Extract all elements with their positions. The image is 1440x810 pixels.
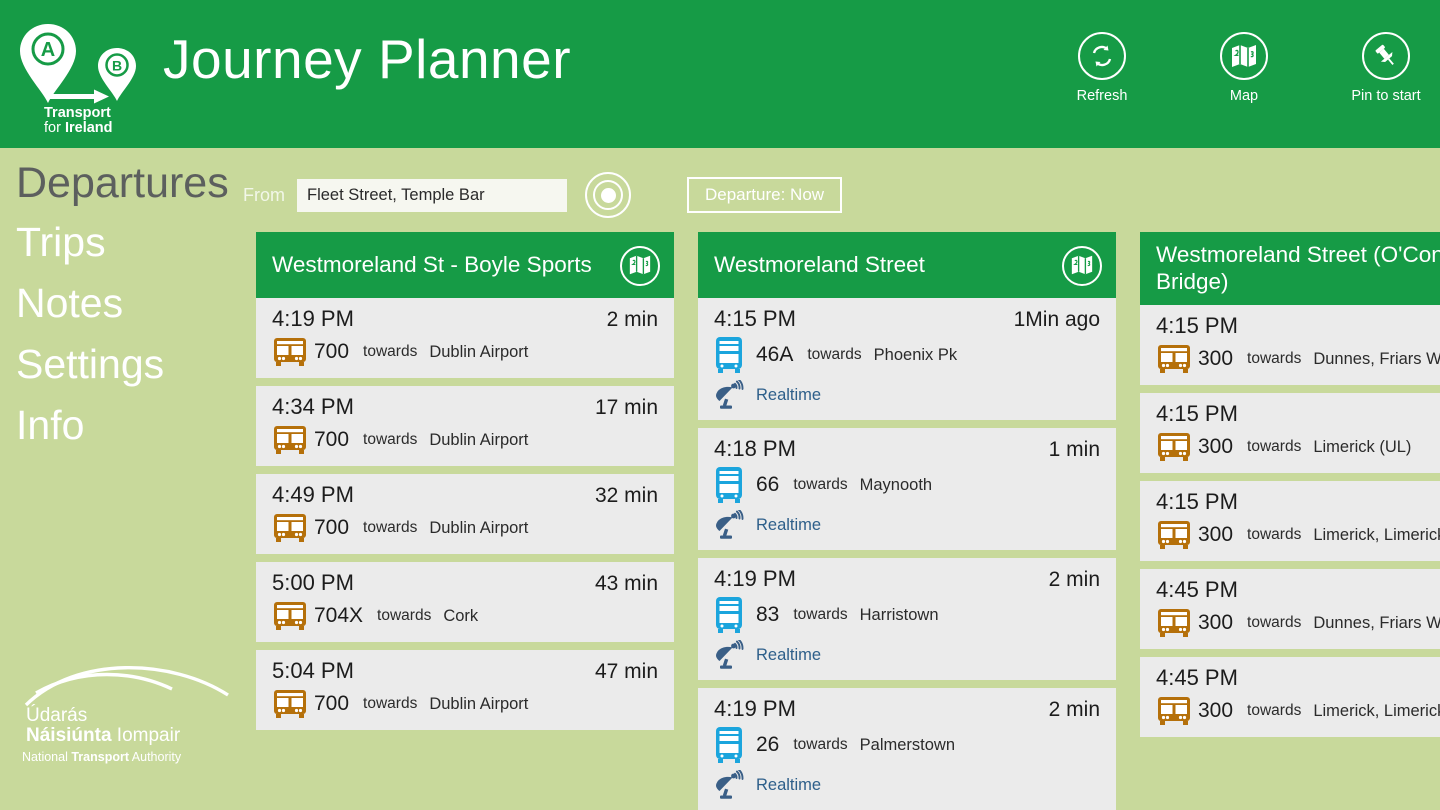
stop-column: Westmoreland Street (O'Connell Bridge) 4… [1140,232,1440,810]
towards-label: towards [363,431,417,449]
departure-row-main: 700towardsDublin Airport [272,336,658,368]
transport-for-ireland-logo: A B Transport for Ireland [18,18,158,136]
departure-row-main: 300towardsLimerick, Limerick Quay [1156,695,1440,727]
departure-time: 4:19 PM [272,306,354,332]
stop-column: Westmoreland St - Boyle Sports 4:19 PM2 … [256,232,674,810]
departure-row-top: 4:15 PM1Min ago [1156,489,1440,515]
route-number: 66 [756,473,779,497]
coach-icon [272,512,314,544]
departure-eta: 17 min [595,396,658,420]
route-number: 26 [756,733,779,757]
destination-label: Limerick, Limerick Quay [1313,702,1440,721]
svg-text:Údarás: Údarás [26,704,87,726]
satellite-icon [714,640,756,670]
stop-name: Westmoreland Street (O'Connell Bridge) [1156,242,1440,295]
departure-time: 4:15 PM [1156,401,1238,427]
refresh-button[interactable]: Refresh [1062,32,1142,104]
departure-eta: 1Min ago [1014,308,1100,332]
sidebar-item-settings[interactable]: Settings [16,344,164,385]
sidebar-item-trips[interactable]: Trips [16,222,164,263]
departure-time: 4:45 PM [1156,577,1238,603]
towards-label: towards [793,736,847,754]
destination-label: Dublin Airport [429,343,528,362]
route-number: 83 [756,603,779,627]
towards-label: towards [363,343,417,361]
departure-row[interactable]: 4:15 PM1Min ago 300towardsDunnes, Friars… [1140,305,1440,385]
app-title: Journey Planner [163,32,571,87]
towards-label: towards [1247,350,1301,368]
departure-time: 5:00 PM [272,570,354,596]
departure-list: 4:15 PM1Min ago 300towardsDunnes, Friars… [1140,305,1440,737]
coach-icon [1156,343,1198,375]
departure-eta: 2 min [1049,568,1100,592]
svg-text:B: B [112,58,122,74]
departure-eta: 43 min [595,572,658,596]
journey-planner-app: A B Transport for Ireland Journey Planne… [0,0,1440,810]
stop-map-button[interactable] [620,246,660,286]
coach-icon [272,600,314,632]
app-header: A B Transport for Ireland Journey Planne… [0,0,1440,148]
route-number: 300 [1198,347,1233,371]
departure-time: 4:18 PM [714,436,796,462]
departure-row-main: 300towardsDunnes, Friars Walk [1156,343,1440,375]
realtime-label: Realtime [756,776,821,795]
departure-row-top: 5:00 PM43 min [272,570,658,596]
destination-label: Dublin Airport [429,695,528,714]
realtime-label: Realtime [756,516,821,535]
satellite-icon [714,770,756,800]
nta-logo-line3-b: Authority [129,750,181,764]
coach-icon [1156,607,1198,639]
locate-me-button[interactable] [585,172,631,218]
coach-icon [1156,431,1198,463]
route-number: 700 [314,340,349,364]
realtime-label: Realtime [756,646,821,665]
departure-row-main: 700towardsDublin Airport [272,424,658,456]
svg-text:Transport: Transport [44,105,111,121]
departure-row[interactable]: 5:04 PM47 min 700towardsDublin Airport [256,650,674,730]
departure-row-main: 700towardsDublin Airport [272,688,658,720]
departure-row[interactable]: 4:45 PM29 min 300towardsDunnes, Friars W… [1140,569,1440,649]
towards-label: towards [1247,438,1301,456]
departure-row[interactable]: 4:18 PM1 min 66towardsMaynooth Realtime [698,428,1116,550]
departure-row[interactable]: 4:19 PM2 min 26towardsPalmerstown Realti… [698,688,1116,810]
destination-label: Dublin Airport [429,431,528,450]
departure-row-main: 26towardsPalmerstown [714,726,1100,764]
svg-text:for Ireland: for Ireland [44,120,113,136]
destination-label: Palmerstown [860,736,955,755]
departure-row-main: 83towardsHarristown [714,596,1100,634]
departure-time: 4:15 PM [714,306,796,332]
nta-logo: Údarás Náisiúnta Iompair National Transp… [22,647,232,764]
departure-row-main: 300towardsLimerick, Limerick Quay [1156,519,1440,551]
departure-row[interactable]: 4:19 PM2 min 700towardsDublin Airport [256,298,674,378]
stop-name: Westmoreland St - Boyle Sports [272,252,592,279]
map-icon [628,254,652,279]
realtime-label: Realtime [756,386,821,405]
departure-time: 4:15 PM [1156,489,1238,515]
sidebar-item-notes[interactable]: Notes [16,283,164,324]
towards-label: towards [1247,526,1301,544]
realtime-row: Realtime [714,380,1100,410]
sidebar-nav: Trips Notes Settings Info [16,222,164,466]
route-number: 300 [1198,611,1233,635]
departure-row[interactable]: 4:15 PM1Min ago 46AtowardsPhoenix Pk Rea… [698,298,1116,420]
departure-row-top: 4:19 PM2 min [714,696,1100,722]
departure-row[interactable]: 4:45 PM29 min 300towardsLimerick, Limeri… [1140,657,1440,737]
coach-icon [272,688,314,720]
map-button-label: Map [1230,88,1258,104]
destination-label: Harristown [860,606,939,625]
coach-icon [272,424,314,456]
departure-row-main: 704XtowardsCork [272,600,658,632]
sidebar: Departures Trips Notes Settings Info Úda… [0,148,256,810]
stop-header: Westmoreland Street (O'Connell Bridge) [1140,232,1440,305]
svg-text:A: A [41,39,55,61]
departure-eta: 2 min [607,308,658,332]
departure-row[interactable]: 4:49 PM32 min 700towardsDublin Airport [256,474,674,554]
departure-time: 4:49 PM [272,482,354,508]
destination-label: Limerick (UL) [1313,438,1411,457]
svg-text:Náisiúnta Iompair: Náisiúnta Iompair [26,725,181,746]
route-number: 700 [314,516,349,540]
stop-column: Westmoreland Street 4:15 PM1Min ago 46At… [698,232,1116,810]
departure-row-main: 300towardsDunnes, Friars Walk [1156,607,1440,639]
coach-icon [1156,519,1198,551]
departure-row-top: 5:04 PM47 min [272,658,658,684]
realtime-row: Realtime [714,770,1100,800]
nta-logo-line3-bold: Transport [71,750,129,764]
route-number: 700 [314,692,349,716]
coach-icon [1156,695,1198,727]
destination-label: Dunnes, Friars Walk [1313,614,1440,633]
realtime-row: Realtime [714,640,1100,670]
stop-header: Westmoreland St - Boyle Sports [256,232,674,298]
departure-row[interactable]: 4:19 PM2 min 83towardsHarristown Realtim… [698,558,1116,680]
departure-row-top: 4:15 PM1Min ago [714,306,1100,332]
stop-name: Westmoreland Street [714,252,925,279]
from-label: From [243,185,285,206]
satellite-icon [714,510,756,540]
route-number: 300 [1198,435,1233,459]
departure-row[interactable]: 5:00 PM43 min 704XtowardsCork [256,562,674,642]
departure-row-top: 4:15 PM1Min ago [1156,401,1440,427]
destination-label: Cork [443,607,478,626]
satellite-icon [714,380,756,410]
route-number: 300 [1198,699,1233,723]
departure-row-top: 4:34 PM17 min [272,394,658,420]
realtime-row: Realtime [714,510,1100,540]
departure-time: 4:34 PM [272,394,354,420]
departure-eta: 1 min [1049,438,1100,462]
departure-time: 4:19 PM [714,696,796,722]
departure-row-main: 700towardsDublin Airport [272,512,658,544]
departure-time: 4:19 PM [714,566,796,592]
appbar-actions: Refresh Map [1062,32,1426,104]
towards-label: towards [363,695,417,713]
departure-row[interactable]: 4:15 PM1Min ago 300towardsLimerick (UL) [1140,393,1440,473]
towards-label: towards [793,476,847,494]
double-decker-icon [714,336,756,374]
route-number: 300 [1198,523,1233,547]
departure-row-top: 4:19 PM2 min [272,306,658,332]
map-button[interactable]: Map [1204,32,1284,104]
destination-label: Dublin Airport [429,519,528,538]
coach-icon [272,336,314,368]
towards-label: towards [363,519,417,537]
refresh-icon [1078,32,1126,80]
departure-time: 4:45 PM [1156,665,1238,691]
departure-row-main: 66towardsMaynooth [714,466,1100,504]
departure-row[interactable]: 4:15 PM1Min ago 300towardsLimerick, Lime… [1140,481,1440,561]
destination-label: Limerick, Limerick Quay [1313,526,1440,545]
departure-row-main: 300towardsLimerick (UL) [1156,431,1440,463]
route-number: 46A [756,343,793,367]
page-title: Departures [16,162,229,205]
departure-list: 4:19 PM2 min 700towardsDublin Airport4:3… [256,298,674,730]
departure-row-top: 4:45 PM29 min [1156,665,1440,691]
refresh-button-label: Refresh [1077,88,1128,104]
departure-row-top: 4:49 PM32 min [272,482,658,508]
destination-label: Maynooth [860,476,932,495]
nta-logo-line3-a: National [22,750,71,764]
route-number: 700 [314,428,349,452]
from-input[interactable] [297,179,567,212]
destination-label: Dunnes, Friars Walk [1313,350,1440,369]
towards-label: towards [793,606,847,624]
destination-label: Phoenix Pk [874,346,957,365]
sidebar-item-info[interactable]: Info [16,405,164,446]
departure-eta: 32 min [595,484,658,508]
double-decker-icon [714,466,756,504]
departure-time-button[interactable]: Departure: Now [687,177,842,213]
departure-row-top: 4:18 PM1 min [714,436,1100,462]
towards-label: towards [377,607,431,625]
departure-row-top: 4:15 PM1Min ago [1156,313,1440,339]
departure-eta: 2 min [1049,698,1100,722]
departure-time: 4:15 PM [1156,313,1238,339]
departure-row[interactable]: 4:34 PM17 min 700towardsDublin Airport [256,386,674,466]
departure-list: 4:15 PM1Min ago 46AtowardsPhoenix Pk Rea… [698,298,1116,810]
departure-columns[interactable]: Westmoreland St - Boyle Sports 4:19 PM2 … [256,232,1440,810]
towards-label: towards [807,346,861,364]
double-decker-icon [714,726,756,764]
towards-label: towards [1247,702,1301,720]
departure-time: 5:04 PM [272,658,354,684]
departure-row-top: 4:19 PM2 min [714,566,1100,592]
departure-eta: 47 min [595,660,658,684]
departure-row-top: 4:45 PM29 min [1156,577,1440,603]
departure-row-main: 46AtowardsPhoenix Pk [714,336,1100,374]
locate-me-icon-ring [593,180,623,210]
stop-map-button[interactable] [1062,246,1102,286]
towards-label: towards [1247,614,1301,632]
stop-header: Westmoreland Street [698,232,1116,298]
map-icon [1220,32,1268,80]
map-icon [1070,254,1094,279]
pin-icon [1362,32,1410,80]
double-decker-icon [714,596,756,634]
pin-to-start-button[interactable]: Pin to start [1346,32,1426,104]
pin-to-start-button-label: Pin to start [1351,88,1420,104]
route-number: 704X [314,604,363,628]
query-bar: From Departure: Now [243,170,842,220]
